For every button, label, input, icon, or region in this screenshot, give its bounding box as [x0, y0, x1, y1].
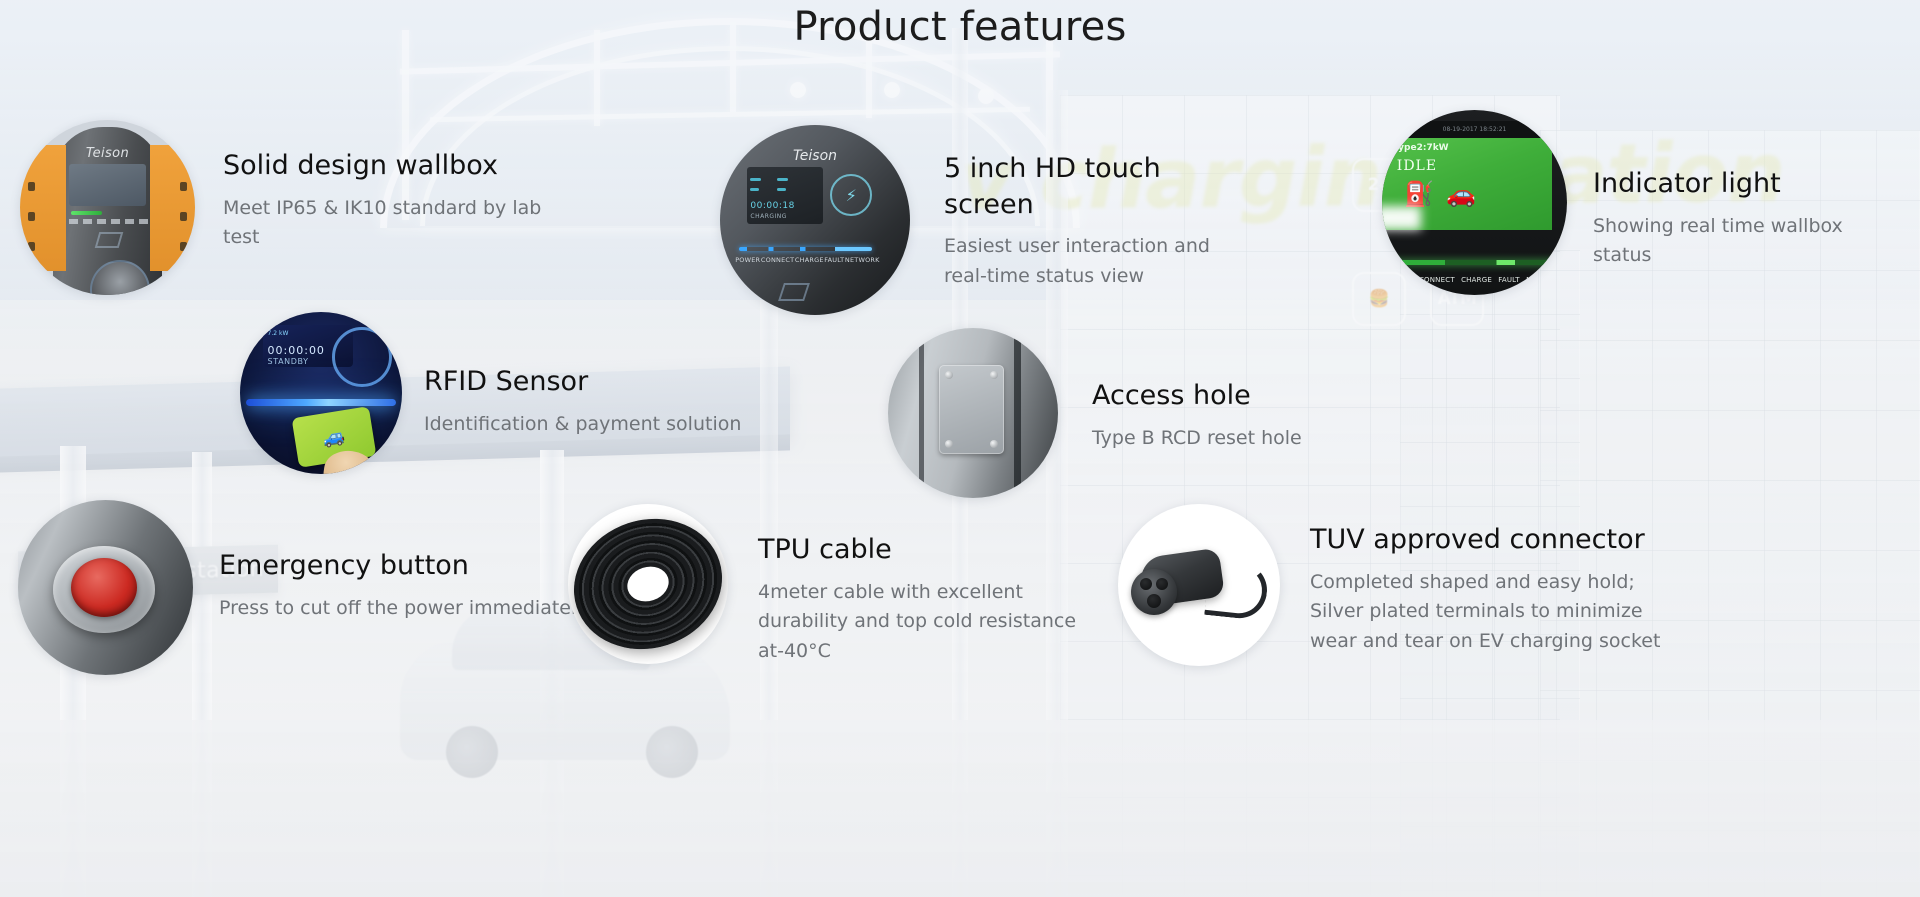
indicator-led-label-power: POWER — [1386, 276, 1413, 284]
feature-desc-access-hole: Type B RCD reset hole — [1092, 424, 1492, 453]
wallbox-panel-hole — [28, 212, 35, 221]
wallbox-orange-panel-left — [20, 145, 66, 271]
feature-image-tuv-approved-connector — [1118, 504, 1280, 666]
feature-text-tuv-approved-connector: TUV approved connector Completed shaped … — [1310, 504, 1690, 656]
wallbox-brand-label: Teison — [20, 146, 195, 161]
hd-led-label-network: NETWORK — [845, 256, 880, 264]
connector-pin — [1147, 594, 1161, 608]
feature-desc-emergency-button: Press to cut off the power immediately — [219, 594, 619, 623]
rfid-power-value: 7.2 kW — [268, 330, 289, 337]
wallbox-panel-hole — [28, 182, 35, 191]
connector-pin — [1156, 578, 1168, 590]
feature-desc-tpu-cable: 4meter cable with excellent durability a… — [758, 578, 1088, 666]
wallbox-panel-hole — [28, 242, 35, 251]
feature-title-tuv-approved-connector: TUV approved connector — [1310, 522, 1690, 558]
feature-title-tpu-cable: TPU cable — [758, 532, 1088, 568]
connector-head — [1131, 569, 1177, 615]
indicator-led-label-fault: FAULT — [1498, 276, 1520, 284]
feature-image-emergency-button — [18, 500, 193, 675]
indicator-led-label-charge: CHARGE — [1461, 276, 1492, 284]
wallbox-led-labels — [69, 219, 150, 224]
feature-text-tpu-cable: TPU cable 4meter cable with excellent du… — [758, 504, 1088, 666]
feature-hd-touch-screen: Teison 00:00:18 CHARGING POWER CONNECT C… — [720, 125, 1300, 315]
wallbox-panel-hole — [180, 182, 187, 191]
rfid-led-strip — [246, 399, 395, 406]
feature-title-rfid-sensor: RFID Sensor — [424, 364, 904, 400]
indicator-led-label-connect: CONNECT — [1419, 276, 1455, 284]
feature-image-indicator-light: 08-19-2017 18:52:21 Type2:7kW IDLE ⛽ 🚗 P… — [1382, 110, 1567, 295]
access-plate-screw — [945, 440, 953, 448]
indicator-type-label: Type2:7kW — [1393, 143, 1449, 153]
feature-tuv-approved-connector: TUV approved connector Completed shaped … — [1118, 504, 1918, 666]
hd-panel-line — [777, 178, 788, 181]
hd-led-labels: POWER CONNECT CHARGE FAULT NETWORK — [735, 256, 879, 264]
hd-led-label-power: POWER — [735, 256, 760, 264]
feature-title-hd-touch-screen: 5 inch HD touch screen — [944, 151, 1244, 222]
indicator-led-label-network: NETWORK — [1526, 276, 1563, 284]
hd-led-label-charge: CHARGE — [795, 256, 824, 264]
feature-image-tpu-cable — [568, 504, 728, 664]
hd-logo-icon — [778, 283, 810, 301]
page-title: Product features — [0, 0, 1920, 50]
hd-panel-line — [777, 188, 786, 191]
feature-text-emergency-button: Emergency button Press to cut off the po… — [219, 500, 619, 623]
connector-cable — [1204, 559, 1270, 621]
hd-panel-line — [750, 188, 759, 191]
feature-text-solid-design-wallbox: Solid design wallbox Meet IP65 & IK10 st… — [223, 120, 583, 253]
feature-title-emergency-button: Emergency button — [219, 548, 619, 584]
access-plate-screw — [945, 371, 953, 379]
hd-timer-value: 00:00:18 — [750, 201, 794, 211]
wallbox-panel-hole — [180, 212, 187, 221]
feature-image-solid-design-wallbox: Teison — [20, 120, 195, 295]
connector-pin — [1140, 578, 1152, 590]
feature-title-solid-design-wallbox: Solid design wallbox — [223, 148, 583, 184]
access-plate-screw — [990, 440, 998, 448]
feature-title-access-hole: Access hole — [1092, 378, 1492, 414]
feature-desc-indicator-light: Showing real time wallbox status — [1593, 212, 1893, 271]
hd-state-label: CHARGING — [750, 213, 787, 220]
access-plate — [939, 365, 1004, 453]
indicator-light-flare — [1382, 206, 1421, 230]
feature-tpu-cable: TPU cable 4meter cable with excellent du… — [568, 504, 1188, 666]
rfid-timer-value: 00:00:00 — [268, 344, 325, 357]
car-icon: 🚗 — [1446, 180, 1476, 208]
rfid-state-label: STANDBY — [268, 357, 309, 366]
feature-desc-rfid-sensor: Identification & payment solution — [424, 410, 904, 439]
access-seam-left — [919, 328, 924, 498]
feature-indicator-light: 08-19-2017 18:52:21 Type2:7kW IDLE ⛽ 🚗 P… — [1382, 110, 1920, 295]
feature-text-rfid-sensor: RFID Sensor Identification & payment sol… — [424, 312, 904, 439]
feature-rfid-sensor: 7.2 kW 00:00:00 STANDBY 🚙 RFID Sensor Id… — [240, 312, 940, 474]
emergency-button-cap — [71, 558, 138, 618]
wallbox-led-bar — [71, 211, 103, 215]
indicator-led-bar — [1382, 260, 1567, 265]
feature-text-indicator-light: Indicator light Showing real time wallbo… — [1593, 110, 1893, 271]
hd-battery-icon — [830, 174, 872, 216]
charging-station-icon: ⛽ — [1404, 180, 1434, 208]
rfid-ring-icon — [332, 327, 392, 387]
feature-text-hd-touch-screen: 5 inch HD touch screen Easiest user inte… — [944, 125, 1244, 291]
access-plate-screw — [990, 371, 998, 379]
wallbox-logo-icon — [95, 232, 124, 248]
feature-emergency-button: Emergency button Press to cut off the po… — [18, 500, 638, 675]
hd-brand-label: Teison — [720, 148, 910, 164]
feature-access-hole: Access hole Type B RCD reset hole — [888, 328, 1508, 498]
feature-desc-tuv-approved-connector: Completed shaped and easy hold; Silver p… — [1310, 568, 1690, 656]
feature-image-rfid-sensor: 7.2 kW 00:00:00 STANDBY 🚙 — [240, 312, 402, 474]
indicator-timestamp: 08-19-2017 18:52:21 — [1382, 121, 1567, 138]
feature-title-indicator-light: Indicator light — [1593, 166, 1893, 202]
hd-led-bar — [739, 247, 872, 251]
hd-panel-line — [750, 178, 761, 181]
hd-led-label-fault: FAULT — [824, 256, 844, 264]
indicator-state-label: IDLE — [1397, 158, 1437, 174]
indicator-pictograms: ⛽ 🚗 — [1404, 180, 1476, 208]
wallbox-orange-panel-right — [150, 145, 196, 271]
feature-desc-solid-design-wallbox: Meet IP65 & IK10 standard by lab test — [223, 194, 583, 253]
wallbox-screen — [69, 164, 146, 206]
feature-image-hd-touch-screen: Teison 00:00:18 CHARGING POWER CONNECT C… — [720, 125, 910, 315]
rfid-card-car-icon: 🚙 — [321, 425, 346, 449]
feature-image-access-hole — [888, 328, 1058, 498]
feature-desc-hd-touch-screen: Easiest user interaction and real-time s… — [944, 232, 1244, 291]
indicator-led-labels: POWER CONNECT CHARGE FAULT NETWORK — [1386, 276, 1564, 284]
feature-solid-design-wallbox: Teison Solid design wallbox Meet IP65 & … — [20, 120, 600, 295]
wallbox-panel-hole — [180, 242, 187, 251]
feature-text-access-hole: Access hole Type B RCD reset hole — [1092, 328, 1492, 453]
access-seam-right — [1014, 328, 1021, 498]
hd-led-label-connect: CONNECT — [761, 256, 794, 264]
